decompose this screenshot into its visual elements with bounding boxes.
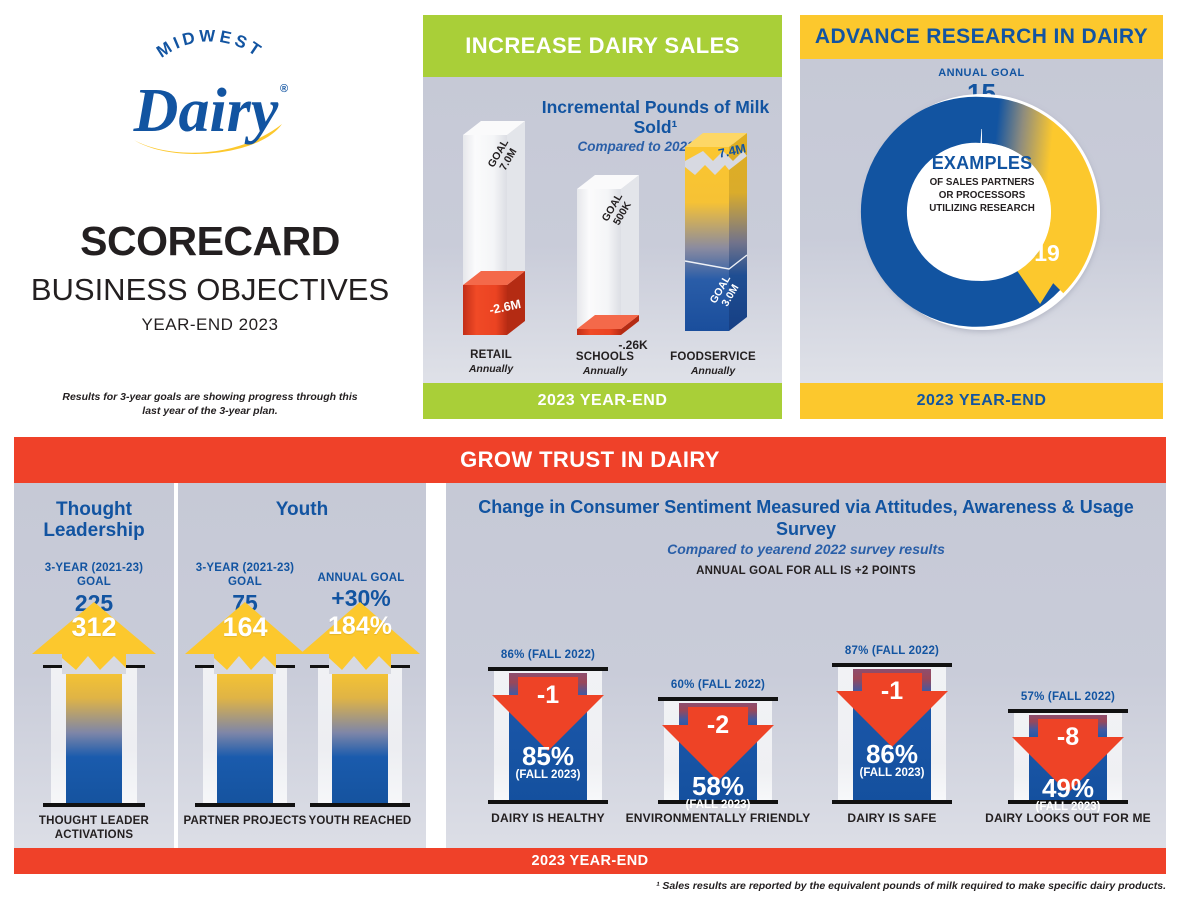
youth-baseline — [310, 803, 410, 807]
thought-goal-lines: 3-YEAR (2021-23) GOAL — [39, 561, 149, 590]
retail-column-svg: -2.6M GOAL 7.0M — [459, 99, 537, 349]
thought-leadership-title: Thought Leadership — [14, 499, 174, 542]
sentiment-topline-2 — [832, 663, 952, 667]
foodservice-column-svg: 7.4M GOAL 3.0M — [681, 115, 759, 351]
research-panel-header: ADVANCE RESEARCH IN DAIRY — [800, 15, 1163, 59]
svg-text:MIDWEST: MIDWEST — [153, 30, 267, 62]
sentiment-topline-0 — [488, 667, 608, 671]
schools-column-svg: -.26K GOAL 500K — [573, 165, 651, 351]
sentiment-pct-0: 85% — [494, 741, 602, 772]
grow-trust-footer: 2023 YEAR-END — [14, 848, 1166, 874]
logo-arc-text: MIDWEST — [153, 30, 267, 62]
sentiment-topline-1 — [658, 697, 778, 701]
sentiment-delta-0: -1 — [494, 681, 602, 710]
retail-name: RETAIL — [431, 349, 551, 361]
foodservice-name: FOODSERVICE — [653, 351, 773, 363]
results-note: Results for 3-year goals are showing pro… — [60, 390, 360, 418]
thought-baseline — [43, 803, 145, 807]
retail-annually: Annually — [431, 363, 551, 375]
sentiment-title: Change in Consumer Sentiment Measured vi… — [446, 497, 1166, 540]
sentiment-baseline-3: 57% (FALL 2022) — [973, 691, 1163, 703]
donut-center-sub: OF SALES PARTNERS OR PROCESSORS UTILIZIN… — [923, 177, 1041, 216]
partner-projects-bar: 164 PARTNER PROJECTS — [203, 668, 287, 803]
logo-wordmark: Dairy — [133, 77, 279, 145]
youth-subpanel: Youth 3-YEAR (2021-23) GOAL 75 ANNUAL GO… — [178, 483, 426, 848]
partner-result-value: 164 — [203, 612, 287, 643]
sentiment-bar-dairy-looks-out-for-me: 57% (FALL 2022) -8 49% (FALL 2023) DAIRY… — [1014, 711, 1122, 804]
research-panel-body: ANNUAL GOAL 15 — [800, 59, 1163, 383]
research-panel-footer: 2023 YEAR-END — [800, 383, 1163, 419]
grow-trust-header: GROW TRUST IN DAIRY — [14, 437, 1166, 483]
sales-bar-schools: -.26K GOAL 500K SCHOOLS Annually — [573, 165, 637, 343]
donut-center-heading: EXAMPLES — [923, 153, 1041, 174]
increase-dairy-sales-panel: INCREASE DAIRY SALES Incremental Pounds … — [423, 15, 782, 419]
youth-reached-bar: 184% YOUTH REACHED — [318, 668, 402, 803]
infographic-page: MIDWEST Dairy ® SCORECARD BUSINESS OBJEC… — [0, 0, 1180, 907]
sales-bar-foodservice: 7.4M GOAL 3.0M FOODSERVICE Annually — [681, 115, 745, 343]
thought-bar-caption: THOUGHT LEADER ACTIVATIONS — [9, 814, 179, 843]
thought-leader-activations-bar: 312 THOUGHT LEADER ACTIVATIONS — [51, 668, 137, 803]
sentiment-baseline-1: 60% (FALL 2022) — [623, 679, 813, 691]
sentiment-baseline-2: 87% (FALL 2022) — [797, 645, 987, 657]
logo-registered-mark: ® — [280, 83, 288, 95]
sentiment-pct-1: 58% — [664, 771, 772, 802]
schools-annually: Annually — [545, 365, 665, 377]
consumer-sentiment-subpanel: Change in Consumer Sentiment Measured vi… — [446, 483, 1166, 848]
sales-panel-body: Incremental Pounds of Milk Sold¹ Compare… — [423, 77, 782, 383]
sales-panel-footer: 2023 YEAR-END — [423, 383, 782, 419]
thought-leadership-subpanel: Thought Leadership 3-YEAR (2021-23) GOAL… — [14, 483, 174, 848]
page-period: YEAR-END 2023 — [0, 315, 420, 335]
sentiment-delta-2: -1 — [838, 677, 946, 706]
logo-svg: MIDWEST Dairy ® — [110, 30, 310, 160]
partner-baseline — [195, 803, 295, 807]
midwest-dairy-logo: MIDWEST Dairy ® — [110, 30, 310, 160]
advance-research-panel: ADVANCE RESEARCH IN DAIRY ANNUAL GOAL 15 — [800, 15, 1163, 419]
partner-bar-fill — [217, 668, 272, 803]
youth-bar-fill — [332, 668, 387, 803]
thought-bar-fill — [66, 668, 123, 803]
sentiment-pct-sub-1: (FALL 2023) — [664, 799, 772, 811]
schools-result-label: -.26K — [618, 338, 648, 351]
page-subtitle: BUSINESS OBJECTIVES — [0, 272, 420, 308]
sentiment-topline-3 — [1008, 709, 1128, 713]
sentiment-goal-note: ANNUAL GOAL FOR ALL IS +2 POINTS — [446, 565, 1166, 577]
sales-bar-retail: -2.6M GOAL 7.0M RETAIL Annually — [459, 99, 523, 341]
sentiment-pct-3: 49% — [1014, 773, 1122, 804]
sentiment-bar-environmentally-friendly: 60% (FALL 2022) -2 58% (FALL 2023) ENVIR… — [664, 699, 772, 804]
thought-result-value: 312 — [51, 612, 137, 643]
sentiment-bar-dairy-is-safe: 87% (FALL 2022) -1 86% (FALL 2023) DAIRY… — [838, 665, 946, 804]
page-title: SCORECARD — [0, 218, 420, 265]
sentiment-pct-sub-0: (FALL 2023) — [494, 769, 602, 781]
sentiment-bar-dairy-is-healthy: 86% (FALL 2022) -1 85% (FALL 2023) DAIRY… — [494, 669, 602, 804]
schools-name: SCHOOLS — [545, 351, 665, 363]
foodservice-annually: Annually — [653, 365, 773, 377]
brand-block: MIDWEST Dairy ® SCORECARD BUSINESS OBJEC… — [0, 0, 420, 430]
grow-trust-panel: GROW TRUST IN DAIRY Thought Leadership 3… — [14, 437, 1166, 874]
sentiment-pct-2: 86% — [838, 739, 946, 770]
footnote: ¹ Sales results are reported by the equi… — [656, 880, 1166, 892]
sentiment-caption-3: DAIRY LOOKS OUT FOR ME — [963, 811, 1173, 825]
youth-goal-lines-0: 3-YEAR (2021-23) GOAL — [190, 561, 300, 590]
youth-title: Youth — [178, 499, 426, 520]
youth-bar-caption: YOUTH REACHED — [275, 814, 445, 828]
sentiment-subtitle: Compared to yearend 2022 survey results — [446, 541, 1166, 557]
donut-center-label: EXAMPLES OF SALES PARTNERS OR PROCESSORS… — [923, 153, 1041, 216]
sentiment-botline-0 — [488, 800, 608, 804]
sales-panel-header: INCREASE DAIRY SALES — [423, 15, 782, 77]
sentiment-baseline-0: 86% (FALL 2022) — [453, 649, 643, 661]
youth-result-value: 184% — [318, 612, 402, 641]
youth-goal-lines-1: ANNUAL GOAL — [306, 571, 416, 585]
donut-result-value: 19 — [1034, 240, 1060, 266]
sentiment-botline-2 — [832, 800, 952, 804]
donut-goal-tick-outer — [979, 109, 986, 129]
sentiment-delta-1: -2 — [664, 711, 772, 740]
sentiment-delta-3: -8 — [1014, 723, 1122, 752]
sentiment-pct-sub-2: (FALL 2023) — [838, 767, 946, 779]
